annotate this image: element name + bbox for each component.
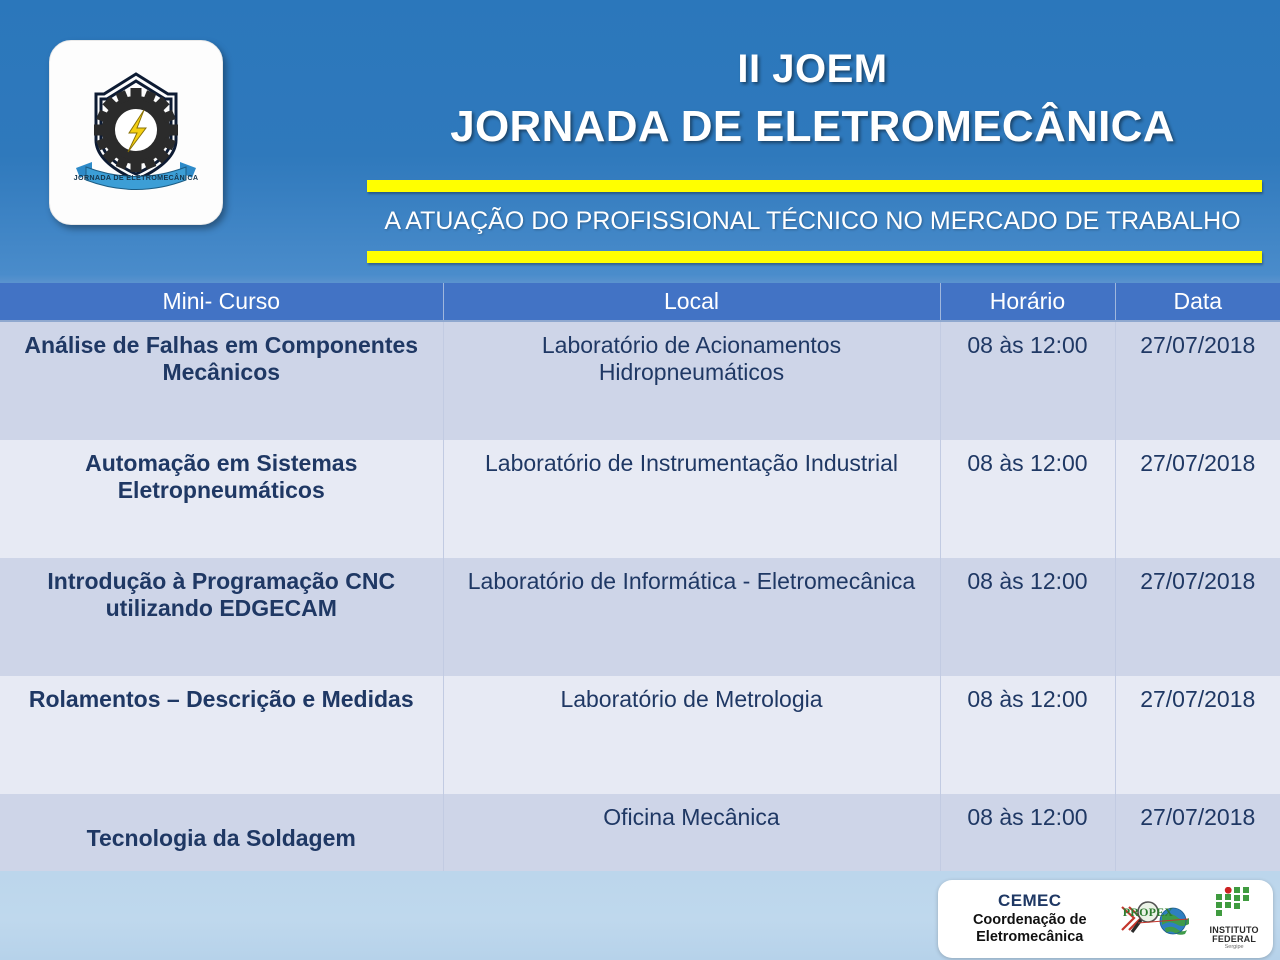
cell-local: Laboratório de Informática - Eletromecân… (443, 558, 940, 676)
svg-text:PROPEX: PROPEX (1123, 905, 1174, 919)
instituto-federal-logo: INSTITUTO FEDERAL Sergipe (1195, 887, 1273, 951)
cell-horario: 08 às 12:00 (940, 321, 1115, 440)
cemec-acronym: CEMEC (944, 891, 1115, 912)
cell-data: 27/07/2018 (1115, 440, 1280, 558)
event-name-title: JORNADA DE ELETROMECÂNICA (360, 104, 1265, 150)
propex-globe-icon: PROPEX (1118, 897, 1192, 941)
slide-header: JORNADA DE ELETROMECÂNICA II JOEM JORNAD… (0, 0, 1280, 283)
cell-curso: Introdução à Programação CNC utilizando … (0, 558, 443, 676)
cell-curso: Análise de Falhas em Componentes Mecânic… (0, 321, 443, 440)
table-row: Análise de Falhas em Componentes Mecânic… (0, 321, 1280, 440)
propex-logo: PROPEX (1115, 897, 1195, 941)
schedule-table: Mini- Curso Local Horário Data Análise d… (0, 283, 1280, 884)
table-row: Rolamentos – Descrição e Medidas Laborat… (0, 676, 1280, 794)
footer-logos-card: CEMEC Coordenação de Eletromecânica (938, 880, 1273, 958)
cell-local: Laboratório de Acionamentos Hidropneumát… (443, 321, 940, 440)
cemec-line-1: Coordenação de (944, 912, 1115, 930)
if-line-2: FEDERAL (1210, 935, 1259, 944)
cell-horario: 08 às 12:00 (940, 440, 1115, 558)
column-header-local: Local (443, 283, 940, 321)
cell-local: Laboratório de Instrumentação Industrial (443, 440, 940, 558)
event-edition-title: II JOEM (360, 48, 1265, 90)
event-theme-text: A ATUAÇÃO DO PROFISSIONAL TÉCNICO NO MER… (360, 207, 1265, 236)
cell-horario: 08 às 12:00 (940, 676, 1115, 794)
presentation-slide: JORNADA DE ELETROMECÂNICA II JOEM JORNAD… (0, 0, 1280, 960)
cell-local: Laboratório de Metrologia (443, 676, 940, 794)
cell-horario: 08 às 12:00 (940, 558, 1115, 676)
table-row: Automação em Sistemas Eletropneumáticos … (0, 440, 1280, 558)
gear-lightning-shield-icon: JORNADA DE ELETROMECÂNICA (50, 41, 222, 224)
accent-bar-top (367, 180, 1262, 192)
accent-bar-bottom (367, 251, 1262, 263)
cell-data: 27/07/2018 (1115, 321, 1280, 440)
schedule-table-container: Mini- Curso Local Horário Data Análise d… (0, 283, 1280, 884)
cemec-block: CEMEC Coordenação de Eletromecânica (938, 891, 1115, 947)
table-row: Introdução à Programação CNC utilizando … (0, 558, 1280, 676)
cell-data: 27/07/2018 (1115, 558, 1280, 676)
instituto-federal-icon (1210, 887, 1256, 921)
cell-curso: Automação em Sistemas Eletropneumáticos (0, 440, 443, 558)
table-header-row: Mini- Curso Local Horário Data (0, 283, 1280, 321)
event-logo-card: JORNADA DE ELETROMECÂNICA (49, 40, 223, 225)
cell-curso: Rolamentos – Descrição e Medidas (0, 676, 443, 794)
column-header-data: Data (1115, 283, 1280, 321)
column-header-curso: Mini- Curso (0, 283, 443, 321)
if-line-3: Sergipe (1210, 945, 1259, 951)
cell-data: 27/07/2018 (1115, 676, 1280, 794)
column-header-horario: Horário (940, 283, 1115, 321)
svg-text:JORNADA DE ELETROMECÂNICA: JORNADA DE ELETROMECÂNICA (74, 173, 199, 182)
cemec-line-2: Eletromecânica (944, 929, 1115, 947)
